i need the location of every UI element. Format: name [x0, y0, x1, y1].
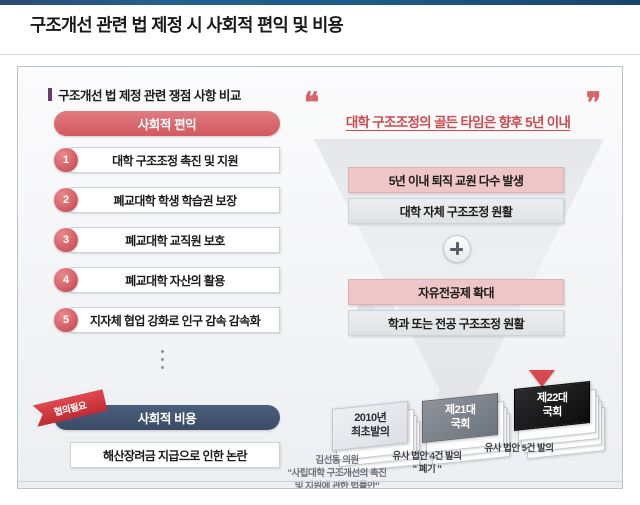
infographic-figure: 이데일리 구조개선 법 제정 관련 쟁점 사항 비교 사회적 편익 1 대학 구… [17, 66, 623, 489]
section-heading: 구조개선 법 제정 관련 쟁점 사항 비교 [48, 85, 241, 104]
card-title-line1: 제22대 [537, 392, 567, 404]
caption-line2: " 폐기 " [413, 464, 442, 475]
timeline-card-title: 제21대 국회 [422, 393, 498, 443]
cost-header-label: 사회적 비용 [138, 408, 197, 427]
list-item-label: 폐교대학 학생 학습권 보장 [70, 187, 280, 213]
card-title-line2: 최초발의 [351, 426, 389, 438]
funnel-box: 학과 또는 전공 구조조정 원활 [348, 310, 564, 336]
card-title-line1: 2010년 [354, 412, 386, 424]
figure-bottom-rule [19, 481, 621, 482]
status-badge-label: 협의필요 [52, 397, 87, 418]
plus-icon [443, 235, 471, 263]
caption-line1: 유사 법안 5건 발의 [485, 443, 554, 454]
title-divider [0, 54, 640, 55]
quote-text: 대학 구조조정의 골든 타임은 향후 5년 이내 [308, 111, 608, 131]
list-item-number: 4 [54, 268, 78, 292]
list-item-label: 폐교대학 자산의 활용 [70, 267, 280, 293]
list-item[interactable]: 2 폐교대학 학생 학습권 보장 [54, 187, 280, 213]
list-item-label: 지자체 협업 강화로 인구 감속 감속화 [70, 307, 280, 333]
list-item-number: 3 [54, 228, 78, 252]
list-item[interactable]: 3 폐교대학 교직원 보호 [54, 227, 280, 253]
list-item-label: 대학 구조조정 촉진 및 지원 [70, 147, 280, 173]
timeline-card-title: 제22대 국회 [514, 381, 590, 431]
funnel-box: 대학 자체 구조조정 원활 [348, 198, 564, 224]
top-accent-bar [0, 0, 640, 5]
list-item[interactable]: 1 대학 구조조정 촉진 및 지원 [54, 147, 280, 173]
card-title-line2: 국회 [450, 418, 469, 430]
list-item-number: 2 [54, 188, 78, 212]
list-item[interactable]: 5 지자체 협업 강화로 인구 감속 감속화 [54, 307, 280, 333]
funnel-box-highlight: 자유전공제 확대 [348, 279, 564, 305]
timeline-card-caption: 유사 법안 5건 발의 [444, 443, 594, 456]
more-items-ellipsis-icon [161, 350, 164, 369]
list-item-number: 1 [54, 148, 78, 172]
card-title-line1: 제21대 [445, 404, 475, 416]
funnel-box-highlight: 5년 이내 퇴직 교원 다수 발생 [348, 167, 564, 193]
list-item[interactable]: 4 폐교대학 자산의 활용 [54, 267, 280, 293]
heading-tick-icon [48, 88, 52, 101]
list-item-number: 5 [54, 308, 78, 332]
page-title: 구조개선 관련 법 제정 시 사회적 편익 및 비용 [30, 12, 590, 37]
list-item-label: 폐교대학 교직원 보호 [70, 227, 280, 253]
benefit-header-label: 사회적 편익 [138, 114, 197, 133]
timeline-card-title: 2010년 최초발의 [332, 401, 408, 451]
benefit-header-pill: 사회적 편익 [54, 111, 280, 136]
card-title-line2: 국회 [542, 406, 561, 418]
cost-item-label: 해산장려금 지급으로 인한 논란 [70, 442, 280, 468]
section-heading-label: 구조개선 법 제정 관련 쟁점 사항 비교 [58, 85, 241, 104]
